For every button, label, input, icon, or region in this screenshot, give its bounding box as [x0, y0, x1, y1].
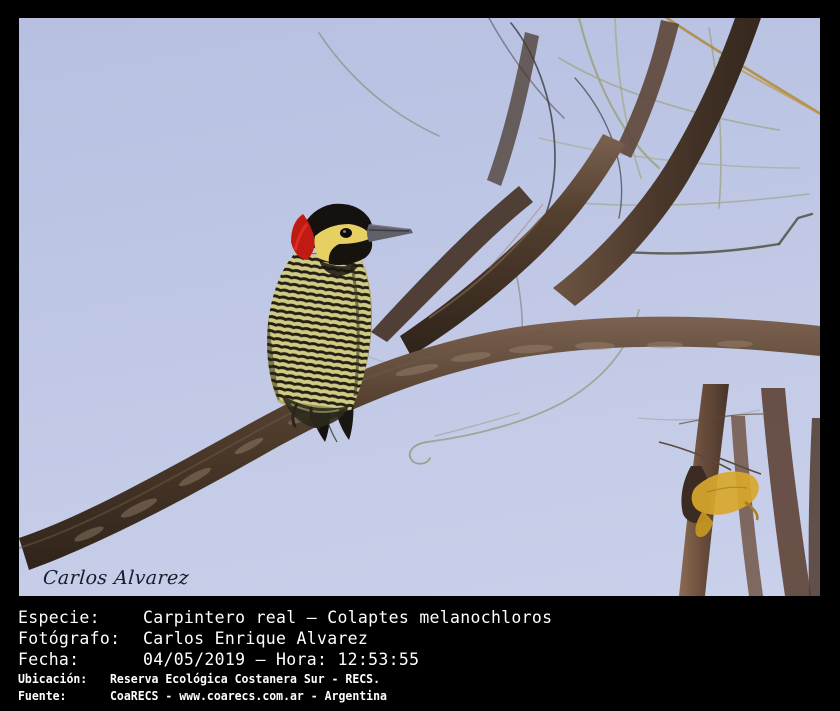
photographer-signature: Carlos Alvarez [42, 567, 190, 589]
caption-secondary-rows: Ubicación: Reserva Ecológica Costanera S… [18, 670, 419, 704]
photo-scene [19, 18, 820, 596]
photograph: Carlos Alvarez [19, 18, 820, 596]
woodpecker-eye [340, 228, 352, 238]
caption-label-source: Fuente: [18, 687, 110, 704]
caption-row-photographer: Fotógrafo: Carlos Enrique Alvarez [18, 628, 552, 649]
caption-primary-rows: Especie: Carpintero real — Colaptes mela… [18, 607, 552, 670]
caption-row-species: Especie: Carpintero real — Colaptes mela… [18, 607, 552, 628]
caption-row-source: Fuente: CoaRECS - www.coarecs.com.ar - A… [18, 687, 387, 704]
caption-panel: Especie: Carpintero real — Colaptes mela… [0, 596, 840, 711]
caption-row-location: Ubicación: Reserva Ecológica Costanera S… [18, 670, 387, 687]
caption-label-species: Especie: [18, 607, 143, 628]
caption-label-photographer: Fotógrafo: [18, 628, 143, 649]
caption-label-location: Ubicación: [18, 670, 110, 687]
caption-value-photographer: Carlos Enrique Alvarez [143, 628, 368, 649]
caption-value-date: 04/05/2019 — Hora: 12:53:55 [143, 649, 419, 670]
image-viewer: Carlos Alvarez Especie: Carpintero real … [0, 0, 840, 711]
caption-value-species: Carpintero real — Colaptes melanochloros [143, 607, 552, 628]
caption-label-date: Fecha: [18, 649, 143, 670]
caption-row-date: Fecha: 04/05/2019 — Hora: 12:53:55 [18, 649, 552, 670]
caption-value-source: CoaRECS - www.coarecs.com.ar - Argentina [110, 687, 387, 704]
caption-value-location: Reserva Ecológica Costanera Sur - RECS. [110, 670, 380, 687]
